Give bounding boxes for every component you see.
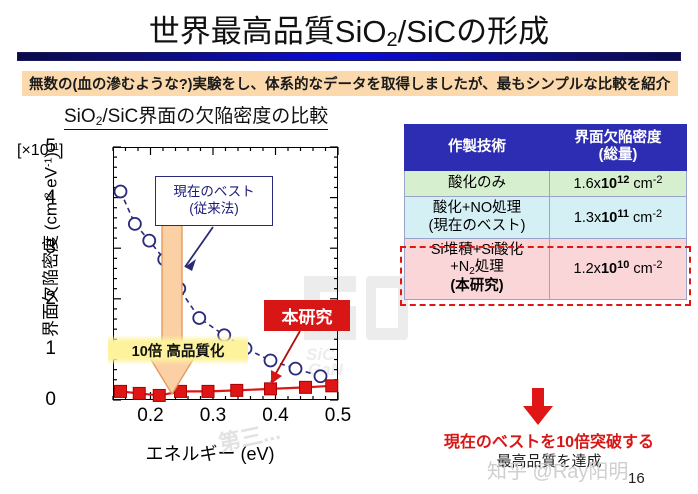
row0-mantissa: 1.6x xyxy=(574,176,601,192)
comparison-table: 作製技術 界面欠陥密度 (総量) 酸化のみ 1.6x1012 cm-2 酸化+N… xyxy=(404,124,687,300)
row1-technique: 酸化+NO処理 (現在のベスト) xyxy=(405,197,550,239)
row2-technique: Si堆積+Si酸化 +N2処理 (本研究) xyxy=(405,238,550,299)
row2-tech-line2: +N2処理 xyxy=(407,259,547,278)
current-best-line2: (従来法) xyxy=(189,201,239,218)
conclusion-red: 現在のベストを10倍突破 xyxy=(444,434,622,451)
table-row: 酸化+NO処理 (現在のベスト) 1.3x1011 cm-2 xyxy=(405,197,687,239)
this-work-annotation: 本研究 xyxy=(264,300,350,331)
chart-series-layer xyxy=(0,120,400,450)
page-title: 世界最高品質SiO2/SiCの形成 xyxy=(0,6,698,52)
current-best-line1: 現在のベスト xyxy=(173,184,254,201)
title-divider xyxy=(17,52,681,61)
row2-mantissa: 1.2x xyxy=(574,261,601,277)
row2-base: 10 xyxy=(601,261,617,277)
intro-banner: 無数の(血の滲むような?)実験をし、体系的なデータを取得しましたが、最もシンプル… xyxy=(22,71,678,96)
page-title-pre: 世界最高品質SiO xyxy=(149,14,387,49)
page-title-post: /SiCの形成 xyxy=(398,14,550,49)
row2-exponent: 10 xyxy=(617,259,629,271)
row2-tech-line3: (本研究) xyxy=(407,278,547,295)
row0-density: 1.6x1012 cm-2 xyxy=(550,170,687,196)
page-number: 16 xyxy=(628,470,645,487)
header-density: 界面欠陥密度 (総量) xyxy=(550,125,687,171)
current-best-annotation: 現在のベスト (従来法) xyxy=(155,176,273,226)
defect-density-chart: [×1011] 界面欠陥密度 (cm-2 eV-1) エネルギー (eV) Si… xyxy=(0,120,400,494)
row1-base: 10 xyxy=(601,210,617,226)
table-row: 酸化のみ 1.6x1012 cm-2 xyxy=(405,170,687,196)
row1-mantissa: 1.3x xyxy=(574,210,601,226)
tenfold-annotation: 10倍 高品質化 xyxy=(108,335,248,365)
row0-base: 10 xyxy=(601,176,617,192)
row0-technique: 酸化のみ xyxy=(405,170,550,196)
table-row: Si堆積+Si酸化 +N2処理 (本研究) 1.2x1010 cm-2 xyxy=(405,238,687,299)
row2-unit: cm-2 xyxy=(633,261,662,277)
row1-tech-line1: 酸化+NO処理 xyxy=(407,200,547,217)
conclusion-tail: する xyxy=(622,434,654,451)
conclusion-line-2: 最高品質を達成 xyxy=(404,450,694,471)
row1-tech-line2: (現在のベスト) xyxy=(407,218,547,235)
down-arrow-icon xyxy=(518,388,558,428)
row1-density: 1.3x1011 cm-2 xyxy=(550,197,687,239)
row0-exponent: 12 xyxy=(617,174,629,186)
row0-tech-line1: 酸化のみ xyxy=(407,175,547,192)
row0-unit: cm-2 xyxy=(633,176,662,192)
header-density-line2: (総量) xyxy=(552,147,684,164)
header-technique: 作製技術 xyxy=(405,125,550,171)
conclusion-line-1: 現在のベストを10倍突破する xyxy=(404,428,694,452)
header-density-line1: 界面欠陥密度 xyxy=(552,130,684,147)
page-title-subscript: 2 xyxy=(386,29,397,51)
row2-density: 1.2x1010 cm-2 xyxy=(550,238,687,299)
row1-exponent: 11 xyxy=(617,208,629,220)
table-header-row: 作製技術 界面欠陥密度 (総量) xyxy=(405,125,687,171)
row1-unit: cm-2 xyxy=(633,210,662,226)
row2-tech-line1: Si堆積+Si酸化 xyxy=(407,242,547,259)
